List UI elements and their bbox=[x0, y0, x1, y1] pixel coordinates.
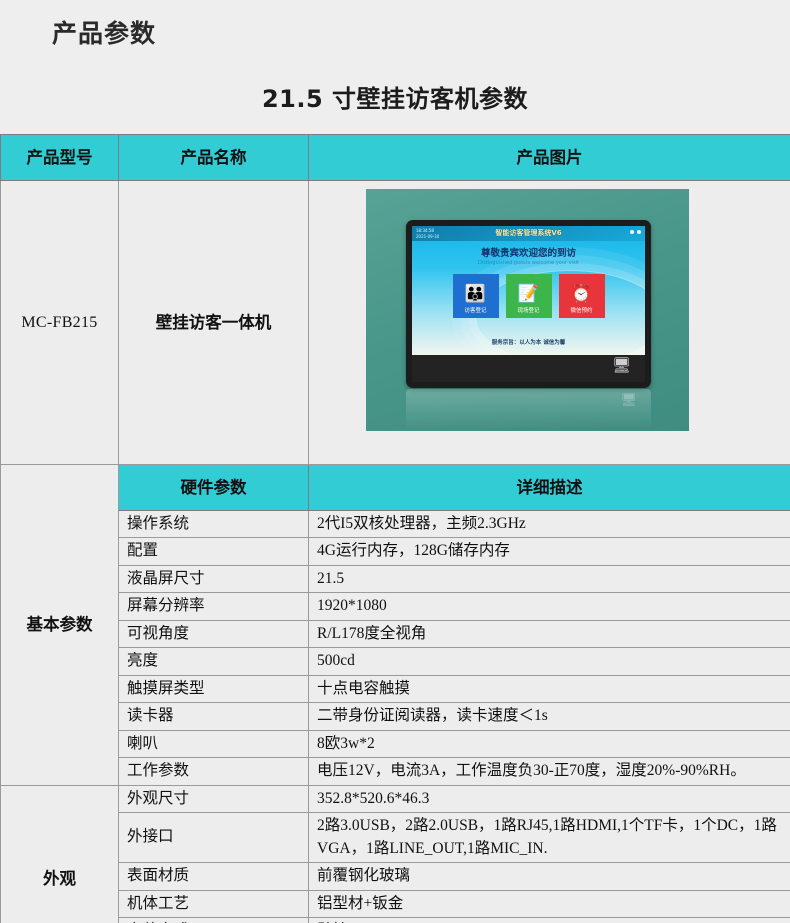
table-row: 外观 外观尺寸 352.8*520.6*46.3 bbox=[1, 785, 790, 812]
spec-key: 配置 bbox=[119, 538, 309, 565]
product-photo-cell: 18:34:58 2021-09-30 智能访客管理系统V6 尊敬贵宾欢迎您的到… bbox=[309, 181, 790, 465]
spec-value: 4G运行内存，128G储存内存 bbox=[309, 538, 790, 565]
table-row: 液晶屏尺寸 21.5 bbox=[1, 565, 790, 592]
tile-label: 现场登记 bbox=[506, 308, 552, 316]
spec-key: 工作参数 bbox=[119, 758, 309, 785]
photo-backdrop: 18:34:58 2021-09-30 智能访客管理系统V6 尊敬贵宾欢迎您的到… bbox=[366, 189, 689, 431]
card-swipe-icon: 🖥 bbox=[612, 359, 631, 374]
spec-key: 亮度 bbox=[119, 648, 309, 675]
spec-key: 液晶屏尺寸 bbox=[119, 565, 309, 592]
product-name-value: 壁挂访客一体机 bbox=[119, 181, 309, 465]
table-row: 配置 4G运行内存，128G储存内存 bbox=[1, 538, 790, 565]
spec-value: 2代I5双核处理器，主频2.3GHz bbox=[309, 511, 790, 538]
screen-system-title: 智能访客管理系统V6 bbox=[412, 228, 645, 238]
header-product-photo: 产品图片 bbox=[309, 135, 790, 181]
table-row: 可视角度 R/L178度全视角 bbox=[1, 620, 790, 647]
table-row: 触摸屏类型 十点电容触摸 bbox=[1, 675, 790, 702]
hardware-header-row: 基本参数 硬件参数 详细描述 bbox=[1, 465, 790, 511]
group-label-basic: 基本参数 bbox=[1, 465, 119, 786]
spec-key: 机体工艺 bbox=[119, 890, 309, 917]
visitors-icon: 👪 bbox=[465, 285, 486, 302]
spec-key: 触摸屏类型 bbox=[119, 675, 309, 702]
spec-value: 21.5 bbox=[309, 565, 790, 592]
card-swipe-icon-reflection: 🖥 bbox=[620, 393, 637, 406]
spec-value: R/L178度全视角 bbox=[309, 620, 790, 647]
table-row: 机体工艺 铝型材+钣金 bbox=[1, 890, 790, 917]
table-row: 工作参数 电压12V，电流3A，工作温度负30-正70度，湿度20%-90%RH… bbox=[1, 758, 790, 785]
table-title: 21.5 寸壁挂访客机参数 bbox=[0, 79, 790, 114]
spec-value: 前覆钢化玻璃 bbox=[309, 863, 790, 890]
screen-window-buttons bbox=[630, 230, 641, 234]
table-row: 读卡器 二带身份证阅读器，读卡速度＜1s bbox=[1, 703, 790, 730]
screen-tile-row: 👪 访客登记 📝 现场登记 ⏰ bbox=[412, 274, 645, 318]
table-row: 操作系统 2代I5双核处理器，主频2.3GHz bbox=[1, 511, 790, 538]
spec-key: 喇叭 bbox=[119, 730, 309, 757]
spec-value: 壁挂 bbox=[309, 918, 790, 923]
screen-welcome-cn: 尊敬贵宾欢迎您的到访 bbox=[412, 247, 645, 261]
table-row: 喇叭 8欧3w*2 bbox=[1, 730, 790, 757]
clock-icon: ⏰ bbox=[571, 285, 592, 302]
visitor-kiosk-device: 18:34:58 2021-09-30 智能访客管理系统V6 尊敬贵宾欢迎您的到… bbox=[406, 220, 651, 388]
table-row: 外接口 2路3.0USB，2路2.0USB，1路RJ45,1路HDMI,1个TF… bbox=[1, 813, 790, 863]
table-row: 屏幕分辨率 1920*1080 bbox=[1, 593, 790, 620]
spec-value: 1920*1080 bbox=[309, 593, 790, 620]
header-product-model: 产品型号 bbox=[1, 135, 119, 181]
form-edit-icon: 📝 bbox=[518, 285, 539, 302]
spec-value: 电压12V，电流3A，工作温度负30-正70度，湿度20%-90%RH。 bbox=[309, 758, 790, 785]
header-hardware-param: 硬件参数 bbox=[119, 465, 309, 511]
spec-key: 表面材质 bbox=[119, 863, 309, 890]
tile-label: 微信预约 bbox=[559, 308, 605, 316]
spec-value: 十点电容触摸 bbox=[309, 675, 790, 702]
group-label-appearance: 外观 bbox=[1, 785, 119, 923]
table-row: 表面材质 前覆钢化玻璃 bbox=[1, 863, 790, 890]
page-title: 产品参数 bbox=[52, 14, 156, 50]
table-row: 安装方式 壁挂 bbox=[1, 918, 790, 923]
kiosk-screen: 18:34:58 2021-09-30 智能访客管理系统V6 尊敬贵宾欢迎您的到… bbox=[412, 226, 645, 355]
spec-key: 读卡器 bbox=[119, 703, 309, 730]
tile-wechat-appointment[interactable]: ⏰ 微信预约 bbox=[559, 274, 605, 318]
spec-key: 外接口 bbox=[119, 813, 309, 863]
product-model-value: MC-FB215 bbox=[1, 181, 119, 465]
table-row: 亮度 500cd bbox=[1, 648, 790, 675]
spec-value: 8欧3w*2 bbox=[309, 730, 790, 757]
screen-welcome-en: Distinguished guests welcome your visit bbox=[412, 260, 645, 267]
product-spec-page: 产品参数 21.5 寸壁挂访客机参数 产品型号 产品名称 产品图片 MC-FB2… bbox=[0, 0, 790, 923]
spec-key: 操作系统 bbox=[119, 511, 309, 538]
spec-table: 产品型号 产品名称 产品图片 MC-FB215 壁挂访客一体机 bbox=[0, 134, 790, 923]
screen-footer-slogan: 服务宗旨：以人为本 诚信为馨 bbox=[412, 340, 645, 348]
spec-value: 铝型材+钣金 bbox=[309, 890, 790, 917]
product-photo: 18:34:58 2021-09-30 智能访客管理系统V6 尊敬贵宾欢迎您的到… bbox=[309, 181, 790, 464]
spec-value: 2路3.0USB，2路2.0USB，1路RJ45,1路HDMI,1个TF卡，1个… bbox=[309, 813, 790, 863]
spec-key: 可视角度 bbox=[119, 620, 309, 647]
spec-key: 屏幕分辨率 bbox=[119, 593, 309, 620]
spec-key: 安装方式 bbox=[119, 918, 309, 923]
spec-value: 500cd bbox=[309, 648, 790, 675]
device-reflection: 🖥 bbox=[406, 389, 651, 429]
tile-visitor-registration[interactable]: 👪 访客登记 bbox=[453, 274, 499, 318]
spec-value: 二带身份证阅读器，读卡速度＜1s bbox=[309, 703, 790, 730]
header-product-name: 产品名称 bbox=[119, 135, 309, 181]
product-row: MC-FB215 壁挂访客一体机 18:34:58 2021-09-30 bbox=[1, 181, 790, 465]
table-header-row: 产品型号 产品名称 产品图片 bbox=[1, 135, 790, 181]
tile-label: 访客登记 bbox=[453, 308, 499, 316]
device-bottom-bezel: 🖥 bbox=[412, 355, 645, 382]
header-detail-desc: 详细描述 bbox=[309, 465, 790, 511]
spec-value: 352.8*520.6*46.3 bbox=[309, 785, 790, 812]
spec-key: 外观尺寸 bbox=[119, 785, 309, 812]
tile-onsite-registration[interactable]: 📝 现场登记 bbox=[506, 274, 552, 318]
